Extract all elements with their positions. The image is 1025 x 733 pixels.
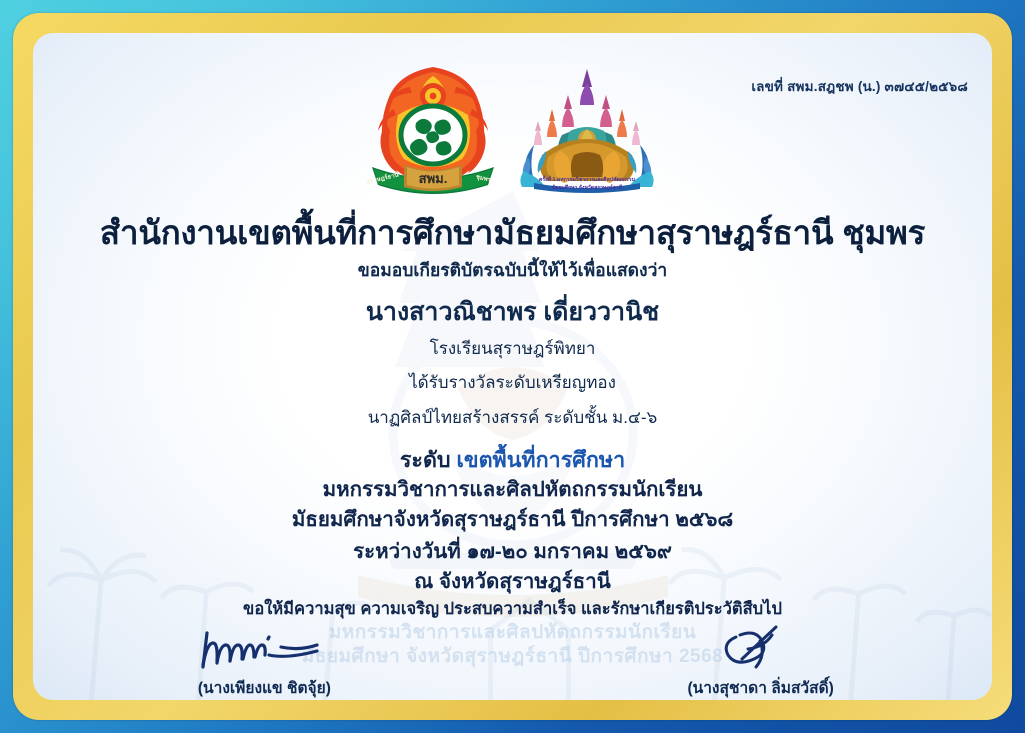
award-result: ได้รับรางวัลระดับเหรียญทอง [33, 374, 992, 392]
sesao-obec-emblem-icon: สพม. สุราษฎร์ธานี ชุมพร [364, 63, 502, 195]
office-title: สำนักงานเขตพื้นที่การศึกษามัธยมศึกษาสุรา… [33, 215, 992, 251]
level-label: ระดับ [400, 448, 451, 472]
signature-mark-director-icon [549, 625, 972, 673]
svg-text:มัธยมศึกษา จังหวัดสุราษฎร์ธานี: มัธยมศึกษา จังหวัดสุราษฎร์ธานี [551, 184, 622, 191]
certificate-paper: มหกรรมวิชาการและศิลปหัตถกรรมนักเรียน มัธ… [33, 33, 992, 700]
fair-place: ณ จังหวัดสุราษฎร์ธานี [33, 571, 992, 593]
award-intro: ขอมอบเกียรติบัตรฉบับนี้ให้ไว้เพื่อแสดงว่… [33, 261, 992, 280]
signer-name-director: (นางสุชาดา ลิ่มสวัสดิ์) [549, 675, 972, 700]
signature-row: (นางเพียงแข ชิตจุ้ย) ประธานเครือข่ายส่งเ… [53, 625, 972, 700]
event-category: นาฏศิลป์ไทยสร้างสรรค์ ระดับชั้น ม.๔-๖ [33, 409, 992, 427]
emblem-row: สพม. สุราษฎร์ธานี ชุมพร [33, 55, 992, 195]
gold-frame-border: มหกรรมวิชาการและศิลปหัตถกรรมนักเรียน มัธ… [13, 13, 1012, 720]
blessing-text: ขอให้มีความสุข ความเจริญ ประสบความสำเร็จ… [33, 601, 992, 619]
fair-dates: ระหว่างวันที่ ๑๗-๒๐ มกราคม ๒๕๖๙ [33, 541, 992, 563]
svg-text:สพม.: สพม. [418, 171, 447, 186]
recipient-name: นางสาวณิชาพร เดี่ยววานิช [33, 299, 992, 326]
recipient-school: โรงเรียนสุราษฎร์พิทยา [33, 340, 992, 358]
signature-mark-chair-icon [53, 625, 476, 673]
fair-name-line2: มัธยมศึกษาจังหวัดสุราษฎร์ธานี ปีการศึกษา… [33, 509, 992, 531]
fair-name-line1: มหกรรมวิชาการและศิลปหัตถกรรมนักเรียน [33, 479, 992, 501]
certificate: มหกรรมวิชาการและศิลปหัตถกรรมนักเรียน มัธ… [0, 0, 1025, 733]
signer-name-chair: (นางเพียงแข ชิตจุ้ย) [53, 675, 476, 700]
signature-block-director: (นางสุชาดา ลิ่มสวัสดิ์) ผู้อำนวยการ สำนั… [549, 625, 972, 700]
competition-level: ระดับ เขตพื้นที่การศึกษา [33, 449, 992, 472]
level-value: เขตพื้นที่การศึกษา [457, 448, 626, 472]
signature-block-chair: (นางเพียงแข ชิตจุ้ย) ประธานเครือข่ายส่งเ… [53, 625, 476, 700]
student-arts-festival-emblem-icon: ครั้งที่ 1 มหกรรมวิชาการและศิลปหัตถกรรม … [512, 65, 662, 195]
